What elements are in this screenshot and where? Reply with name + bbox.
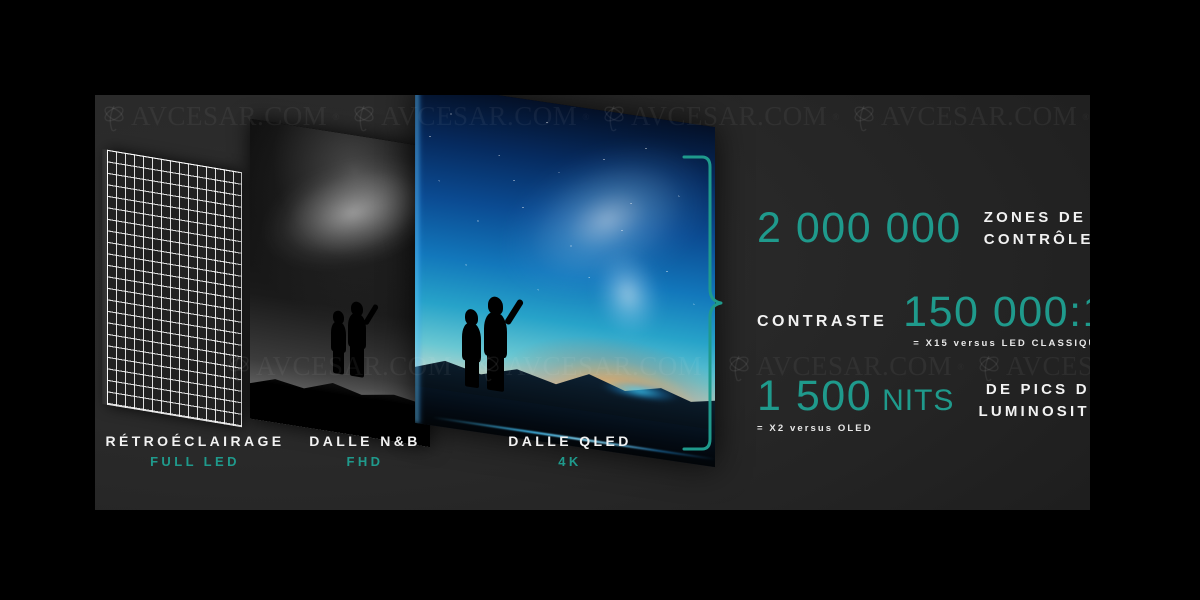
- led-backlight-panel: [107, 150, 242, 428]
- infographic-content-panel: AVCESAR.COM ® AVCESAR.COM ®: [95, 95, 1090, 510]
- panel-label-qled-primary: DALLE QLED: [480, 431, 660, 452]
- figure-b-raised-arm: [363, 304, 379, 326]
- stat-contrast-value: 150 000:1: [903, 291, 1090, 334]
- bw-fhd-panel: [250, 119, 430, 448]
- stat-nits-caption: DE PICS DE LUMINOSITÉ: [978, 375, 1090, 423]
- panel-border: [107, 150, 242, 428]
- panel-label-qled-secondary: 4K: [480, 452, 660, 472]
- teal-curly-brace: [680, 153, 724, 453]
- figure-b-legs: [350, 345, 364, 378]
- stat-pics-de-luminosite: 1 500 NITS = X2 versus OLED DE PICS DE L…: [757, 375, 1090, 434]
- stat-contrast-note: = X15 versus LED CLASSIQUE: [757, 339, 1090, 349]
- qled-silhouettes: [460, 269, 530, 395]
- screenshot-stage: AVCESAR.COM ® AVCESAR.COM ®: [0, 0, 1200, 600]
- stat-contrast-label: CONTRASTE: [757, 313, 887, 331]
- panel-label-backlight-secondary: FULL LED: [105, 452, 285, 472]
- stat-zones-caption-line2: CONTRÔLE: [984, 229, 1090, 251]
- stat-zones-caption: ZONES DE CONTRÔLE: [984, 207, 1090, 251]
- stat-zones-caption-line1: ZONES DE: [984, 207, 1090, 229]
- figure-b-body: [348, 312, 366, 349]
- panel-label-qled: DALLE QLED 4K: [480, 431, 660, 472]
- figure-a-legs: [333, 349, 344, 375]
- qled-left-glow: [415, 95, 422, 424]
- figure-b-body: [484, 311, 507, 358]
- panel-label-bw-primary: DALLE N&B: [280, 431, 450, 452]
- stat-nits-caption-line2: LUMINOSITÉ: [978, 401, 1090, 423]
- panel-label-backlight-primary: RÉTROÉCLAIRAGE: [105, 431, 285, 452]
- panel-label-bw: DALLE N&B FHD: [280, 431, 450, 472]
- stat-nits-caption-line1: DE PICS DE: [978, 379, 1090, 401]
- figure-b-raised-arm: [504, 298, 524, 326]
- panel-label-bw-secondary: FHD: [280, 452, 450, 472]
- stat-nits-note: = X2 versus OLED: [757, 424, 954, 434]
- figure-a-legs: [465, 357, 479, 388]
- stat-nits-value: 1 500: [757, 375, 872, 418]
- figure-b-legs: [487, 352, 504, 392]
- panel-label-backlight: RÉTROÉCLAIRAGE FULL LED: [105, 431, 285, 472]
- stat-zones-de-controle: 2 000 000 ZONES DE CONTRÔLE: [757, 207, 1090, 251]
- qled-4k-panel: [415, 95, 715, 467]
- bw-silhouettes: [329, 279, 381, 379]
- stat-nits-unit: NITS: [882, 384, 954, 418]
- stat-contraste: CONTRASTE 150 000:1 = X15 versus LED CLA…: [757, 291, 1090, 349]
- stat-zones-value: 2 000 000: [757, 207, 962, 250]
